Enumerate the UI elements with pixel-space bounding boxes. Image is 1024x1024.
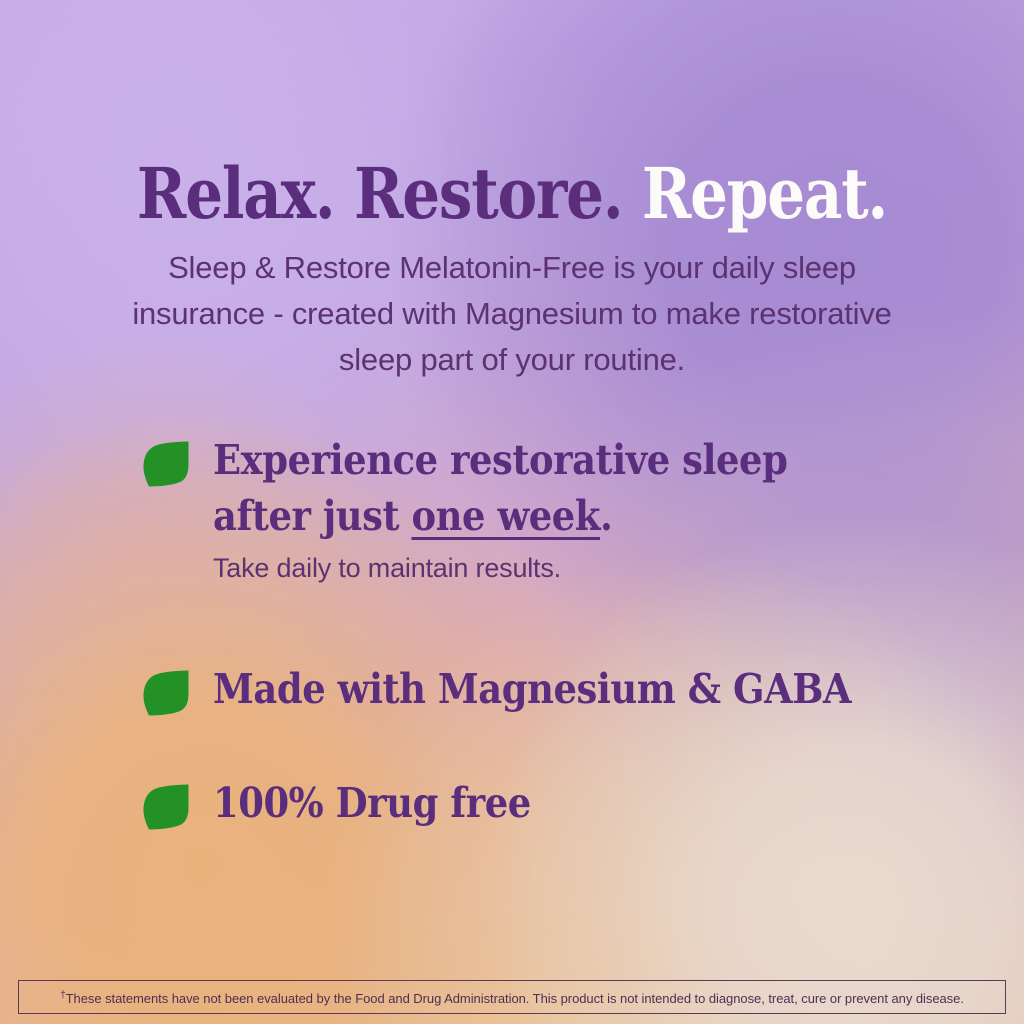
benefit-title: Made with Magnesium & GABA (213, 661, 888, 717)
benefit-body: 100% Drug free (213, 775, 963, 831)
benefit-body: Experience restorative sleep after just … (213, 432, 963, 585)
disclaimer-text: †These statements have not been evaluate… (60, 988, 964, 1006)
benefit-title-emphasis: one week (411, 492, 599, 540)
benefit-subtext: Take daily to maintain results. (213, 551, 963, 585)
benefit-body: Made with Magnesium & GABA (213, 661, 963, 717)
content-layer: Relax. Restore. Repeat. Sleep & Restore … (0, 0, 1024, 1024)
benefit-item: Experience restorative sleep after just … (143, 432, 963, 585)
disclaimer-box: †These statements have not been evaluate… (18, 980, 1006, 1014)
leaf-icon (143, 441, 189, 487)
headline-part-one: Relax. Restore. (137, 152, 622, 235)
benefit-title: 100% Drug free (213, 775, 888, 831)
leaf-icon (143, 784, 189, 830)
benefit-title: Experience restorative sleep after just … (213, 432, 888, 544)
benefit-item: 100% Drug free (143, 775, 963, 831)
promo-canvas: Relax. Restore. Repeat. Sleep & Restore … (0, 0, 1024, 1024)
benefit-item: Made with Magnesium & GABA (143, 661, 963, 717)
disclaimer-body: These statements have not been evaluated… (66, 991, 964, 1006)
benefit-list: Experience restorative sleep after just … (143, 432, 963, 831)
headline-part-two: Repeat. (642, 152, 887, 235)
subheading-text: Sleep & Restore Melatonin-Free is your d… (112, 245, 912, 383)
benefit-title-tail: . (600, 492, 612, 540)
leaf-icon (143, 670, 189, 716)
page-headline: Relax. Restore. Repeat. (77, 159, 947, 229)
